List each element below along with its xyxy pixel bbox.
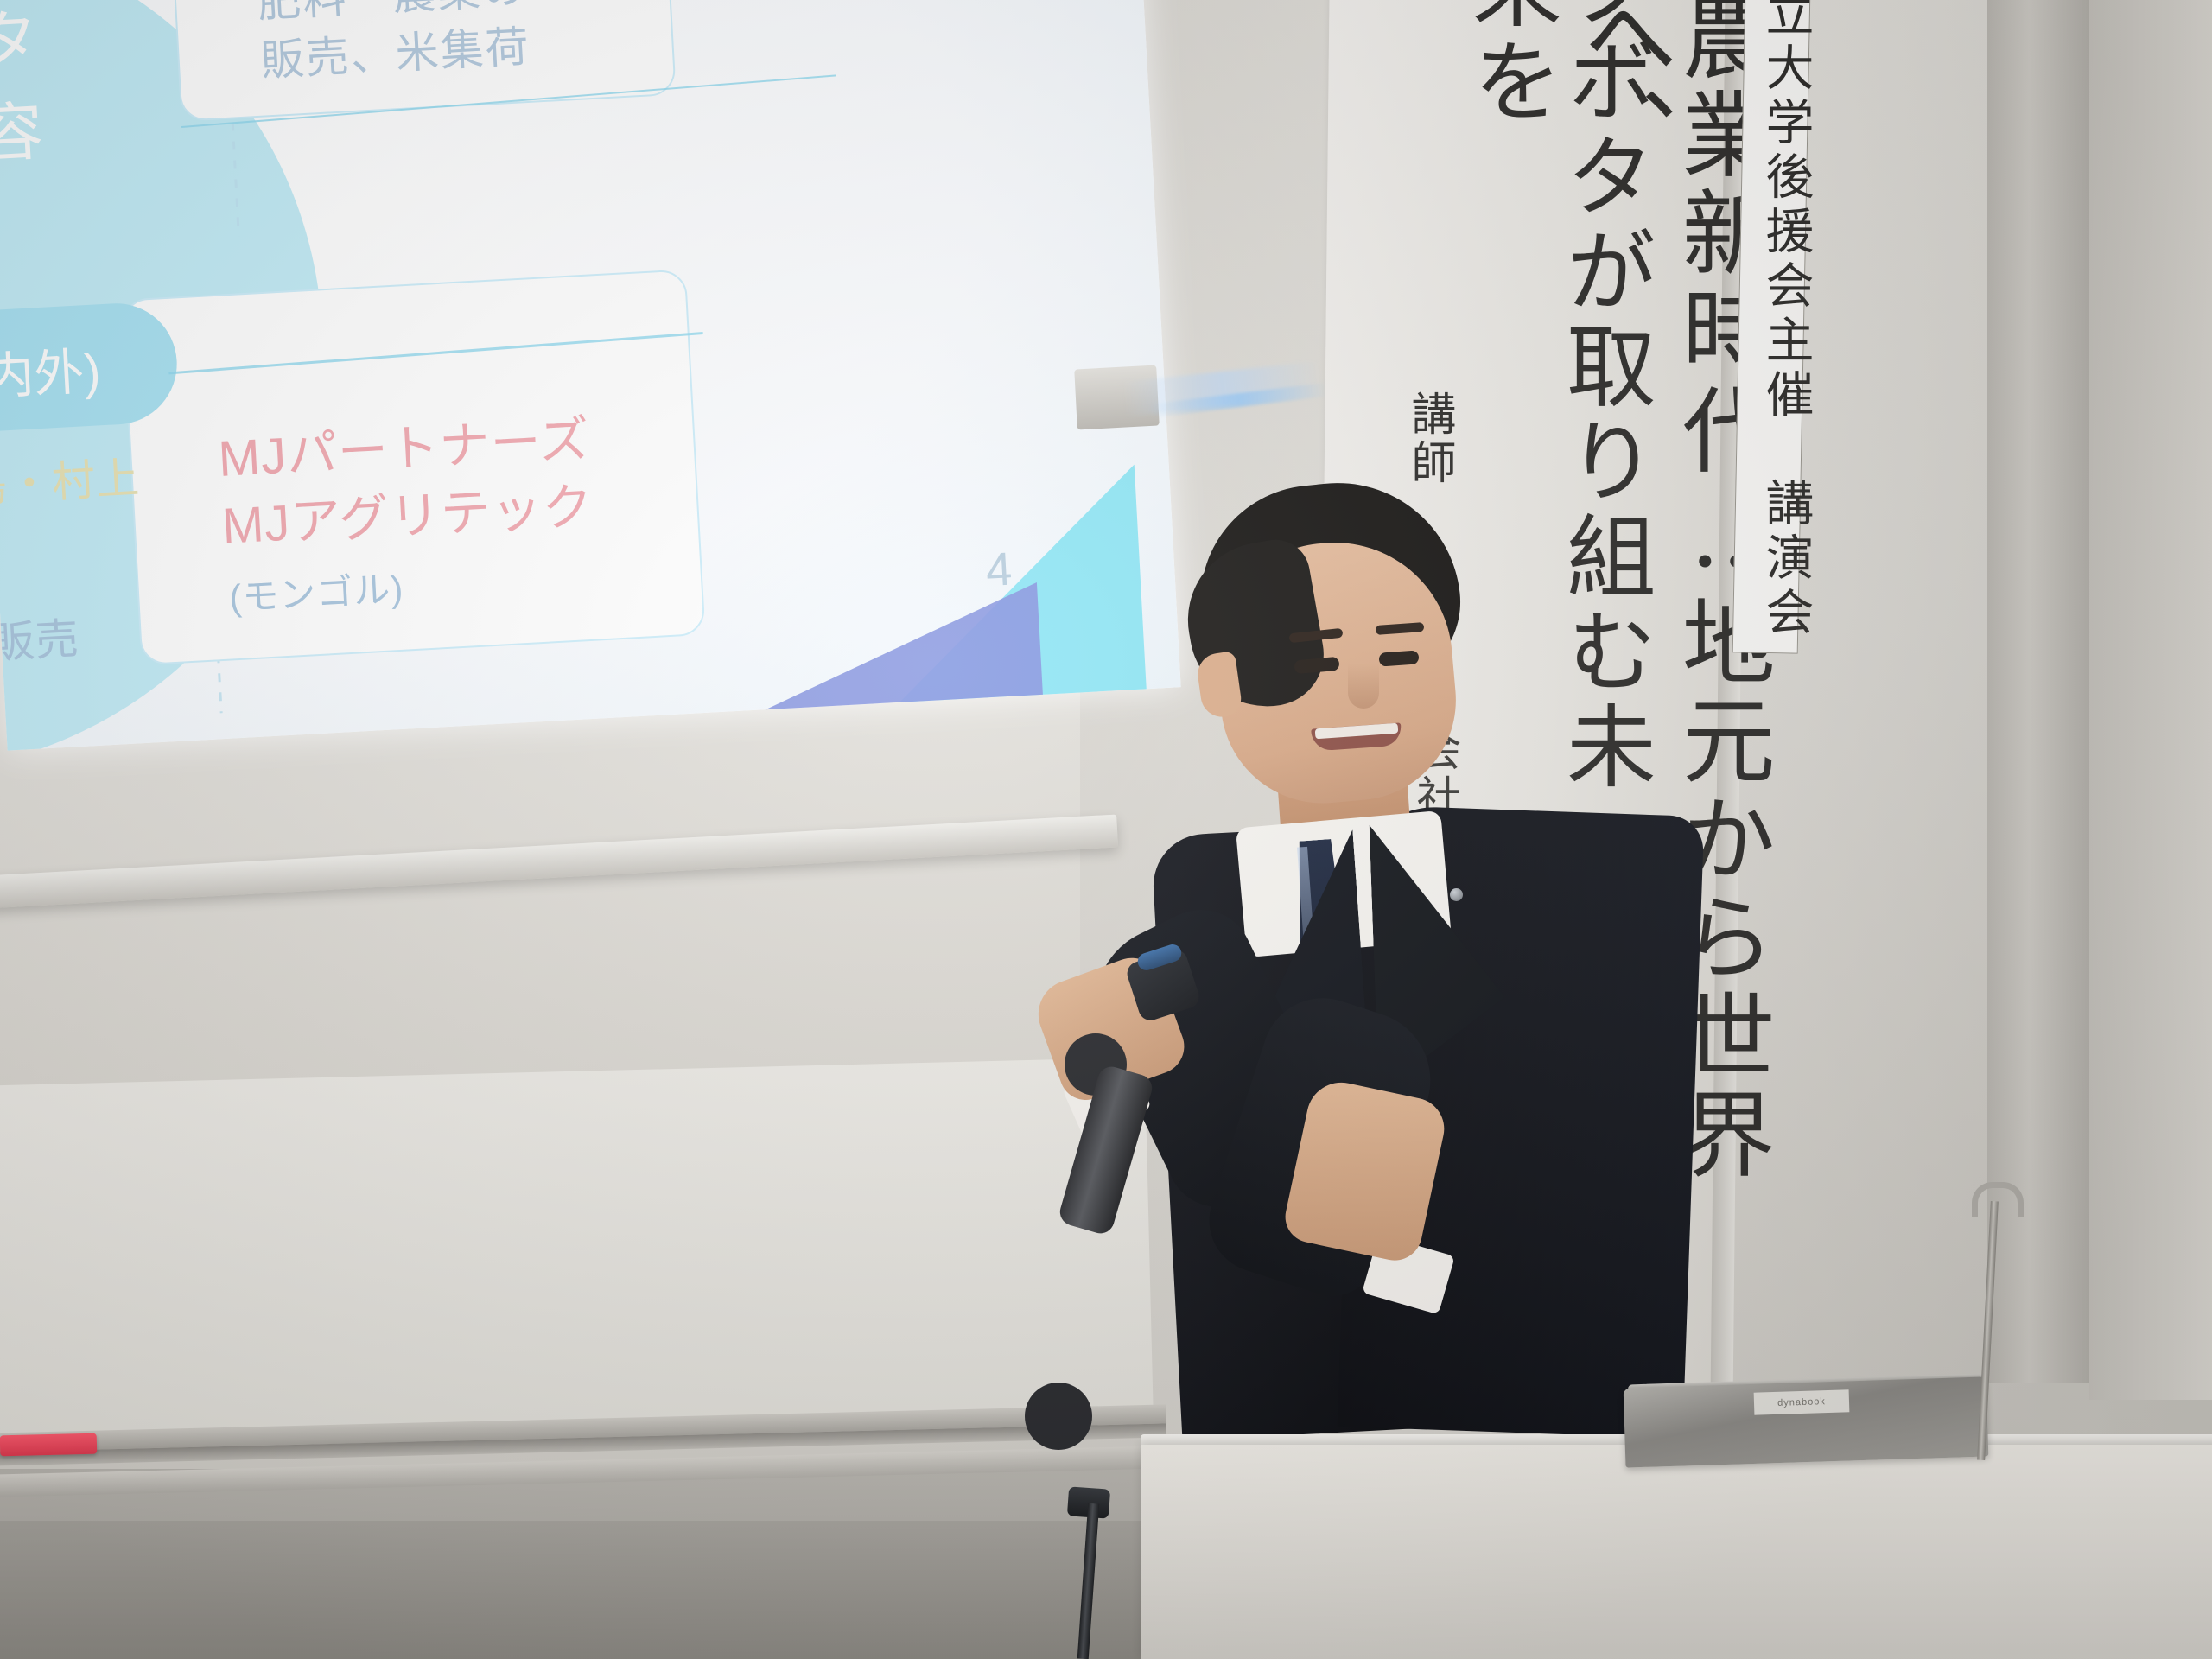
banner-lecturer-label: 講師 xyxy=(1396,391,1461,487)
slide-pill-label: 内外) xyxy=(0,330,102,409)
lapel-pin xyxy=(1450,888,1463,901)
laptop-brand-label: dynabook xyxy=(1754,1389,1850,1414)
wall-far-right-panel xyxy=(2089,0,2212,1400)
nose xyxy=(1348,664,1379,709)
lecture-hall-photo: タ 容 肥料・農薬の 販売、米集荷 内外) 鳥・村上 販売 MJパートナーズ M… xyxy=(0,0,2212,1659)
stand-microphone-head[interactable] xyxy=(1025,1382,1092,1450)
wall-column-right xyxy=(1987,0,2091,1382)
red-whiteboard-marker[interactable] xyxy=(0,1433,97,1457)
banner-organizer-text: 立大学後援会主催 講演会 xyxy=(1751,0,1821,641)
slide-company-names: MJパートナーズ MJアグリテック xyxy=(217,406,595,560)
slide-page-number: 4 xyxy=(984,543,1013,598)
slide-company-note: (モンゴル) xyxy=(228,565,405,623)
whiteboard xyxy=(0,1058,1154,1449)
slide-left-col-text: 鳥・村上 xyxy=(0,449,142,517)
projection-screen: タ 容 肥料・農薬の 販売、米集荷 内外) 鳥・村上 販売 MJパートナーズ M… xyxy=(0,0,1183,785)
podium xyxy=(1141,1445,2212,1659)
floor-band-lower xyxy=(0,1521,1149,1659)
slide-triangle-blue xyxy=(674,582,1045,748)
slide-left-col-text-2: 販売 xyxy=(0,610,81,672)
eye-right xyxy=(1378,650,1419,666)
